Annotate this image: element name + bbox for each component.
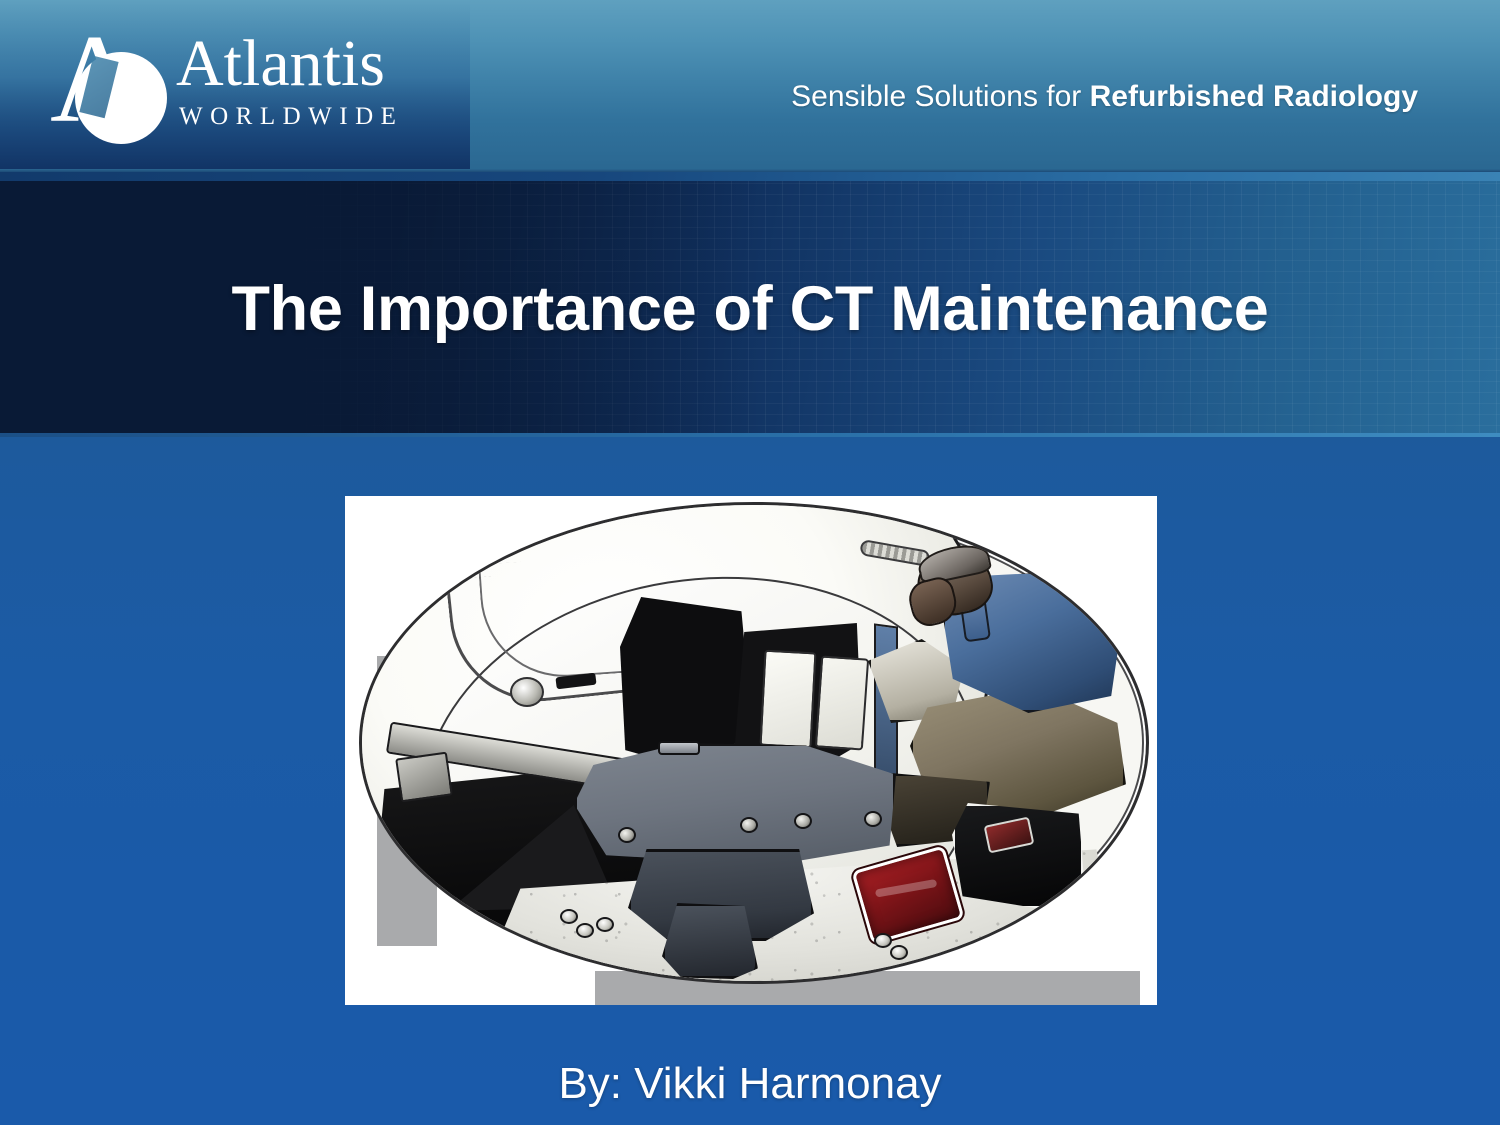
logo-wordmark: Atlantis: [176, 28, 456, 100]
machine-bolt: [794, 813, 812, 829]
title-band-top-accent: [0, 172, 1500, 181]
machine-bolt: [864, 811, 882, 827]
loose-bolt: [596, 917, 614, 932]
loose-bolts-group-left: [558, 905, 628, 945]
loose-bolt: [874, 933, 892, 948]
slide-header: A Atlantis WORLDWIDE Sensible Solutions …: [0, 0, 1500, 172]
oval-clip-region: [362, 505, 1146, 981]
logo-subtitle: WORLDWIDE: [176, 102, 456, 132]
page-title: The Importance of CT Maintenance: [0, 272, 1500, 346]
tagline-emphasis: Refurbished Radiology: [1090, 80, 1418, 113]
author-byline: By: Vikki Harmonay: [0, 1056, 1500, 1112]
logo-text-group: Atlantis WORLDWIDE: [176, 28, 456, 132]
header-tagline: Sensible Solutions for Refurbished Radio…: [791, 78, 1418, 116]
gantry-knob: [510, 677, 544, 707]
gantry-bracket: [395, 752, 453, 803]
machine-cover-tab: [658, 741, 700, 755]
machine-bolt: [618, 827, 636, 843]
detector-panel-one: [760, 650, 817, 749]
figure-canvas: [345, 496, 1157, 1005]
presentation-slide: A Atlantis WORLDWIDE Sensible Solutions …: [0, 0, 1500, 1125]
tagline-prefix: Sensible Solutions for: [791, 80, 1090, 113]
loose-bolts-group-right: [874, 933, 934, 965]
machine-bolt: [740, 817, 758, 833]
toolbox-highlight: [875, 879, 937, 898]
loose-bolt: [576, 923, 594, 938]
machine-cover-panel: [574, 743, 896, 865]
atlantis-a-circle-logo-icon: A: [52, 34, 170, 146]
atlantis-worldwide-logo[interactable]: A Atlantis WORLDWIDE: [52, 28, 452, 150]
machine-cover-foot: [662, 903, 758, 979]
ct-maintenance-illustration: [345, 496, 1157, 1005]
title-band-bottom-accent: [0, 433, 1500, 437]
loose-bolt: [890, 945, 908, 960]
detector-panel-two: [815, 655, 869, 750]
loose-bolt: [560, 909, 578, 924]
oval-vignette-frame: [359, 502, 1149, 984]
